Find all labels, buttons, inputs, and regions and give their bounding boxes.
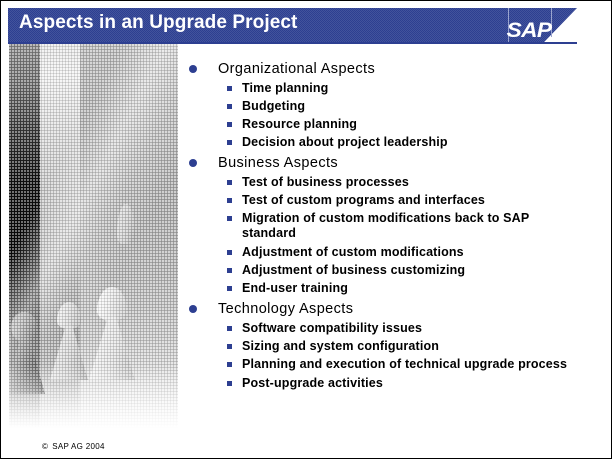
list-item: Migration of custom modifications back t… — [187, 211, 577, 241]
slide-header: Aspects in an Upgrade Project SAP — [8, 8, 577, 42]
bullet-circle-icon — [189, 65, 197, 73]
list-item: End-user training — [187, 281, 577, 296]
section-heading-label: Organizational Aspects — [218, 61, 375, 77]
copyright-symbol: © — [42, 442, 48, 451]
list-item-label: End-user training — [242, 281, 348, 295]
bullet-square-icon — [227, 326, 232, 331]
list-item-label: Test of business processes — [242, 175, 409, 189]
list-item-label: Post-upgrade activities — [242, 376, 383, 390]
section-heading-label: Technology Aspects — [218, 301, 353, 317]
bullet-square-icon — [227, 140, 232, 145]
bullet-circle-icon — [189, 305, 197, 313]
bullet-square-icon — [227, 381, 232, 386]
presentation-slide: Aspects in an Upgrade Project SAP Organi… — [0, 0, 612, 459]
list-item-label: Software compatibility issues — [242, 321, 422, 335]
footer-copyright: ©SAP AG 2004 — [42, 442, 105, 451]
chess-pieces-image — [9, 44, 178, 434]
bullet-square-icon — [227, 286, 232, 291]
bullet-square-icon — [227, 104, 232, 109]
section-heading-technology: Technology Aspects — [187, 299, 577, 319]
list-item: Software compatibility issues — [187, 321, 577, 336]
bullet-square-icon — [227, 86, 232, 91]
list-item: Resource planning — [187, 117, 577, 132]
bullet-square-icon — [227, 198, 232, 203]
bullet-square-icon — [227, 268, 232, 273]
list-item: Planning and execution of technical upgr… — [187, 357, 577, 372]
list-item-label: Time planning — [242, 81, 328, 95]
list-item-label: Adjustment of custom modifications — [242, 245, 464, 259]
section-heading-label: Business Aspects — [218, 155, 338, 171]
list-item-label: Budgeting — [242, 99, 305, 113]
list-item: Time planning — [187, 81, 577, 96]
bullet-square-icon — [227, 122, 232, 127]
list-item-label: Migration of custom modifications back t… — [242, 211, 529, 240]
list-item-label: Decision about project leadership — [242, 135, 448, 149]
list-item: Adjustment of custom modifications — [187, 245, 577, 260]
list-item-label: Test of custom programs and interfaces — [242, 193, 485, 207]
bullet-square-icon — [227, 180, 232, 185]
list-item-label: Sizing and system configuration — [242, 339, 439, 353]
list-item: Decision about project leadership — [187, 135, 577, 150]
list-item: Sizing and system configuration — [187, 339, 577, 354]
list-item-label: Planning and execution of technical upgr… — [242, 357, 567, 371]
slide-content: Organizational Aspects Time planning Bud… — [187, 59, 577, 394]
bullet-circle-icon — [189, 159, 197, 167]
bullet-square-icon — [227, 344, 232, 349]
bullet-square-icon — [227, 250, 232, 255]
list-item-label: Adjustment of business customizing — [242, 263, 465, 277]
list-item: Adjustment of business customizing — [187, 263, 577, 278]
section-heading-business: Business Aspects — [187, 153, 577, 173]
page-title: Aspects in an Upgrade Project — [19, 12, 297, 34]
bullet-square-icon — [227, 362, 232, 367]
image-bottom-fade — [9, 364, 178, 434]
list-item: Post-upgrade activities — [187, 376, 577, 391]
section-heading-organizational: Organizational Aspects — [187, 59, 577, 79]
list-item: Test of custom programs and interfaces — [187, 193, 577, 208]
list-item-label: Resource planning — [242, 117, 357, 131]
list-item: Budgeting — [187, 99, 577, 114]
bullet-square-icon — [227, 216, 232, 221]
list-item: Test of business processes — [187, 175, 577, 190]
sap-logo: SAP — [503, 19, 555, 42]
copyright-text: SAP AG 2004 — [52, 442, 105, 451]
